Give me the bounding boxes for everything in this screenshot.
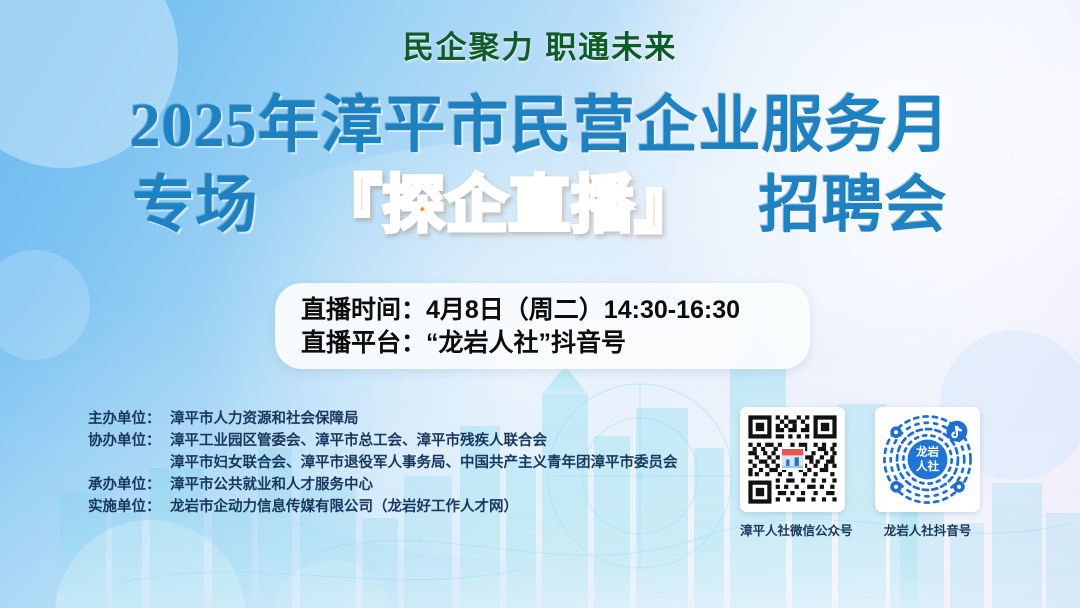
poster-content: 民企聚力 职通未来 2025年漳平市民营企业服务月 专场 『探企直播』 招聘会 … (0, 0, 1080, 608)
live-platform-line: 直播平台：“龙岩人社”抖音号 (301, 327, 810, 360)
qr-caption-douyin: 龙岩人社抖音号 (875, 520, 980, 539)
title-suffix: 招聘会 (759, 172, 948, 240)
slogan-text: 民企聚力 职通未来 (0, 22, 1080, 67)
organizer-row: 主办单位： 漳平市人力资源和社会保障局 (88, 408, 678, 430)
title-highlight: 『探企直播』 (319, 172, 697, 240)
qr-item-wechat[interactable]: 漳平人社微信公众号 (740, 407, 845, 539)
wechat-qr-code-icon (740, 407, 845, 512)
organizer-value: 漳平工业园区管委会、漳平市总工会、漳平市残疾人联合会 (170, 430, 547, 452)
title-prefix: 专场 (132, 172, 258, 240)
organizer-value: 漳平市人力资源和社会保障局 (170, 408, 359, 430)
title-block: 2025年漳平市民营企业服务月 专场 『探企直播』 招聘会 (0, 86, 1080, 246)
organizer-label: 协办单位： (88, 430, 170, 452)
organizer-label: 实施单位： (88, 496, 170, 518)
qr-code-area: 漳平人社微信公众号 (740, 407, 1010, 539)
organizer-label: 承办单位： (88, 474, 170, 496)
live-time-line: 直播时间：4月8日（周二）14:30-16:30 (301, 294, 810, 327)
title-line-1: 2025年漳平市民营企业服务月 (0, 86, 1080, 166)
organizer-row: 协办单位： 漳平工业园区管委会、漳平市总工会、漳平市残疾人联合会 (88, 430, 678, 452)
wechat-qr-card[interactable] (740, 407, 845, 512)
douyin-qr-card[interactable]: 龙岩 人社 (875, 407, 980, 512)
qr-item-douyin[interactable]: 龙岩 人社 龙岩人社抖音号 (875, 407, 980, 539)
organizer-row: 漳平市妇女联合会、漳平市退役军人事务局、中国共产主义青年团漳平市委员会 (88, 452, 678, 474)
organizer-row: 实施单位： 龙岩市企动力信息传媒有限公司（龙岩好工作人才网） (88, 496, 678, 518)
qr-center-logo (780, 447, 805, 470)
organizer-label: 主办单位： (88, 408, 170, 430)
poster-canvas: 民企聚力 职通未来 2025年漳平市民营企业服务月 专场 『探企直播』 招聘会 … (0, 0, 1080, 608)
organizer-list: 主办单位： 漳平市人力资源和社会保障局 协办单位： 漳平工业园区管委会、漳平市总… (88, 408, 678, 518)
qr-caption-wechat: 漳平人社微信公众号 (740, 520, 845, 539)
douyin-qr-code-icon: 龙岩 人社 (875, 407, 980, 512)
organizer-row: 承办单位： 漳平市公共就业和人才服务中心 (88, 474, 678, 496)
organizer-value: 龙岩市企动力信息传媒有限公司（龙岩好工作人才网） (170, 496, 518, 518)
title-line-2: 专场 『探企直播』 招聘会 (0, 166, 1080, 246)
organizer-value: 漳平市妇女联合会、漳平市退役军人事务局、中国共产主义青年团漳平市委员会 (170, 452, 678, 474)
live-info-panel: 直播时间：4月8日（周二）14:30-16:30 直播平台：“龙岩人社”抖音号 (275, 283, 810, 369)
svg-text:人社: 人社 (916, 459, 940, 473)
douyin-note-icon (946, 421, 967, 442)
organizer-value: 漳平市公共就业和人才服务中心 (170, 474, 373, 496)
svg-text:龙岩: 龙岩 (915, 444, 940, 458)
